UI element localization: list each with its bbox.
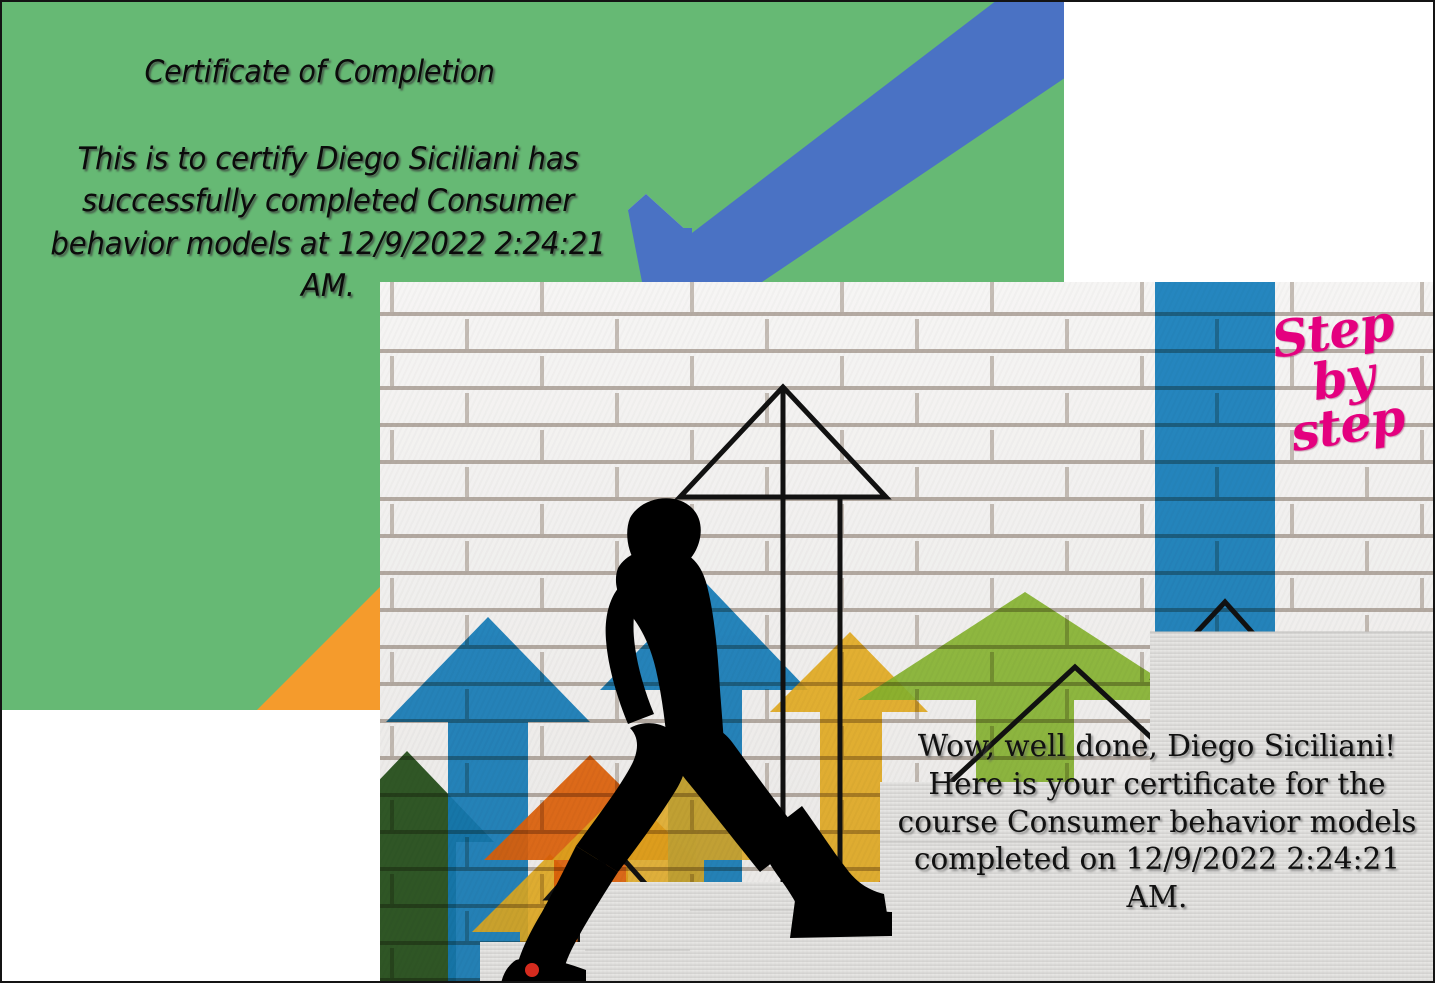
- check-mark-icon: [622, 2, 1064, 302]
- orange-triangle-accent: [257, 580, 387, 710]
- congratulations-message: Wow, well done, Diego Siciliani! Here is…: [892, 728, 1422, 917]
- page-title: Certificate of Completion: [62, 54, 577, 91]
- step-by-step-poster-text: Step by step: [1250, 295, 1430, 461]
- slide-canvas: Certificate of Completion This is to cer…: [0, 0, 1435, 983]
